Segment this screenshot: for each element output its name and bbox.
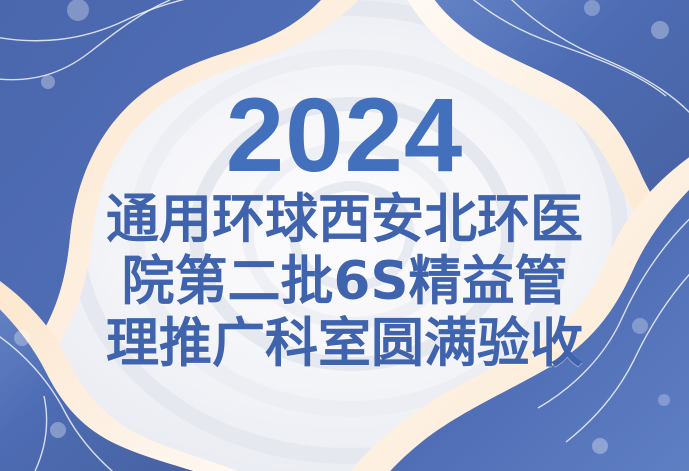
headline-line-1: 通用环球西安北环医 — [106, 193, 583, 247]
poster-headline: 通用环球西安北环医 院第二批6S精益管 理推广科室圆满验收 — [106, 193, 583, 371]
headline-line-2: 院第二批6S精益管 — [121, 255, 567, 309]
poster-text-block: 2024 通用环球西安北环医 院第二批6S精益管 理推广科室圆满验收 — [0, 0, 689, 471]
poster-canvas: 2024 通用环球西安北环医 院第二批6S精益管 理推广科室圆满验收 — [0, 0, 689, 471]
poster-year: 2024 — [226, 88, 464, 185]
headline-line-3: 理推广科室圆满验收 — [106, 317, 583, 371]
